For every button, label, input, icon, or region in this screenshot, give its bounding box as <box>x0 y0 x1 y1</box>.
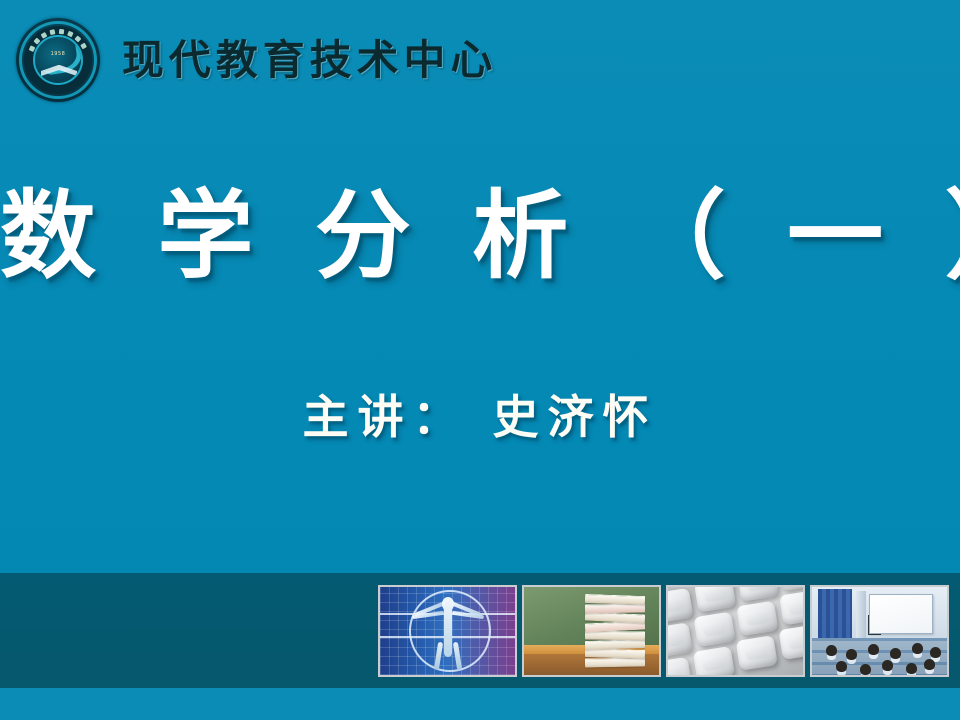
organization-name: 现代教育技术中心 <box>122 40 497 81</box>
student-head <box>912 643 923 654</box>
window-curtain <box>818 589 852 641</box>
student-head <box>882 660 893 671</box>
student-head <box>924 659 935 670</box>
thumbnail-strip: Vitruvian-style human figure on blue tec… <box>378 585 953 677</box>
student-head <box>868 644 879 655</box>
slide-background-bottom-strip <box>0 688 960 720</box>
student-head <box>890 648 901 659</box>
wall-column <box>856 591 866 643</box>
student-head <box>826 645 837 656</box>
logo-year-text: 1958 <box>35 51 81 57</box>
student-head <box>930 647 941 658</box>
course-title: 数 学 分 析 （ 一 ） <box>0 186 960 288</box>
slide-header: 1958 现代教育技术中心 <box>0 0 960 120</box>
course-title-slide: 1958 现代教育技术中心 数 学 分 析 （ 一 ） 主讲： 史济怀 Vitr… <box>0 0 960 720</box>
student-head <box>860 664 871 675</box>
book-stack <box>585 593 645 667</box>
student-head <box>906 663 917 674</box>
keyboard-key-cluster <box>666 585 805 677</box>
projection-screen <box>869 594 933 634</box>
keyboard-keys-thumbnail: Close-up of white computer keyboard keys <box>666 585 805 677</box>
university-emblem-logo: 1958 <box>16 18 100 102</box>
student-head <box>846 649 857 660</box>
figure-torso <box>444 602 452 657</box>
vitruvian-figure-thumbnail: Vitruvian-style human figure on blue tec… <box>378 585 517 677</box>
lecturer-line: 主讲： 史济怀 <box>0 392 960 443</box>
classroom-lecture-thumbnail: Classroom of students facing a projectio… <box>810 585 949 677</box>
student-head <box>836 661 847 672</box>
books-chalkboard-thumbnail: Stack of books in front of a green chalk… <box>522 585 661 677</box>
logo-inner-disc: 1958 <box>33 35 83 85</box>
